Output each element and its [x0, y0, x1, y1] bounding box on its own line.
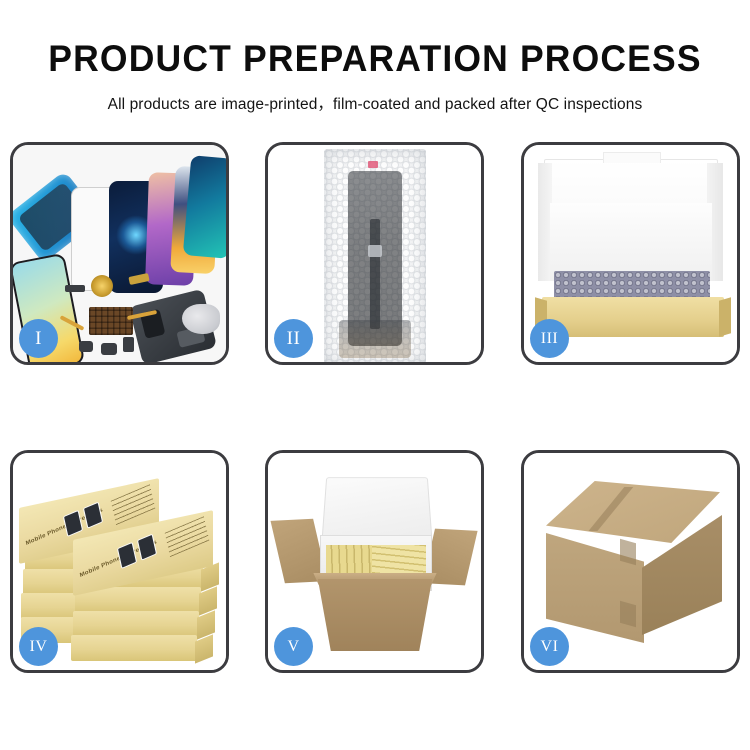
stacked-box-right-2 [73, 611, 199, 637]
bag-bottom-shadow [339, 320, 411, 358]
carton-tape-upper [620, 539, 636, 566]
speaker-coil-icon [91, 275, 113, 297]
product-preparation-infographic: PRODUCT PREPARATION PROCESS All products… [0, 0, 750, 750]
step-badge-3: III [530, 319, 569, 358]
kraft-box-tray-icon [542, 297, 724, 337]
repair-tool-icon [182, 304, 220, 334]
camera-part-icon [79, 341, 93, 352]
bubble-wrap-bag-icon [324, 149, 426, 362]
lcd-connector-icon [368, 245, 382, 257]
process-step-2[interactable]: II [265, 142, 484, 365]
step-badge-1: I [19, 319, 58, 358]
box-art-screen-4 [137, 534, 157, 561]
process-row-1: I II [10, 142, 740, 365]
carton-tape-lower [620, 601, 636, 628]
process-grid: I II [10, 142, 740, 673]
chip-part-icon [65, 285, 85, 292]
box-spec-lines-front [165, 516, 210, 557]
vibrator-part-icon [101, 343, 117, 355]
box-art-screen-2 [83, 502, 103, 529]
foam-box-lid-icon [322, 477, 433, 539]
box-spec-lines-rear [111, 484, 156, 525]
box-art-screen-3 [117, 542, 137, 569]
process-step-1[interactable]: I [10, 142, 229, 365]
process-step-4[interactable]: Mobile Phone Spare Parts Mobile Phone Sp… [10, 450, 229, 673]
stacked-box-right-1 [71, 635, 197, 661]
step-badge-5: V [274, 627, 313, 666]
white-foam-sheet-icon [550, 203, 712, 281]
page-title: PRODUCT PREPARATION PROCESS [15, 40, 735, 77]
page-subtitle: All products are image-printed，film-coat… [0, 92, 750, 114]
process-step-6[interactable]: VI [521, 450, 740, 673]
pink-tape-icon [368, 161, 378, 168]
circuit-board-icon [89, 307, 133, 335]
process-row-2: Mobile Phone Spare Parts Mobile Phone Sp… [10, 450, 740, 673]
lcd-flex-cable-icon [370, 219, 380, 329]
process-step-3[interactable]: III [521, 142, 740, 365]
box-art-screen-1 [63, 510, 83, 537]
header: PRODUCT PREPARATION PROCESS All products… [0, 0, 750, 114]
sim-tray-part-icon [123, 337, 134, 352]
phone-teal-icon [183, 155, 226, 259]
process-step-5[interactable]: V [265, 450, 484, 673]
step-badge-6: VI [530, 627, 569, 666]
step-badge-4: IV [19, 627, 58, 666]
carton-body [310, 579, 440, 651]
step-badge-2: II [274, 319, 313, 358]
